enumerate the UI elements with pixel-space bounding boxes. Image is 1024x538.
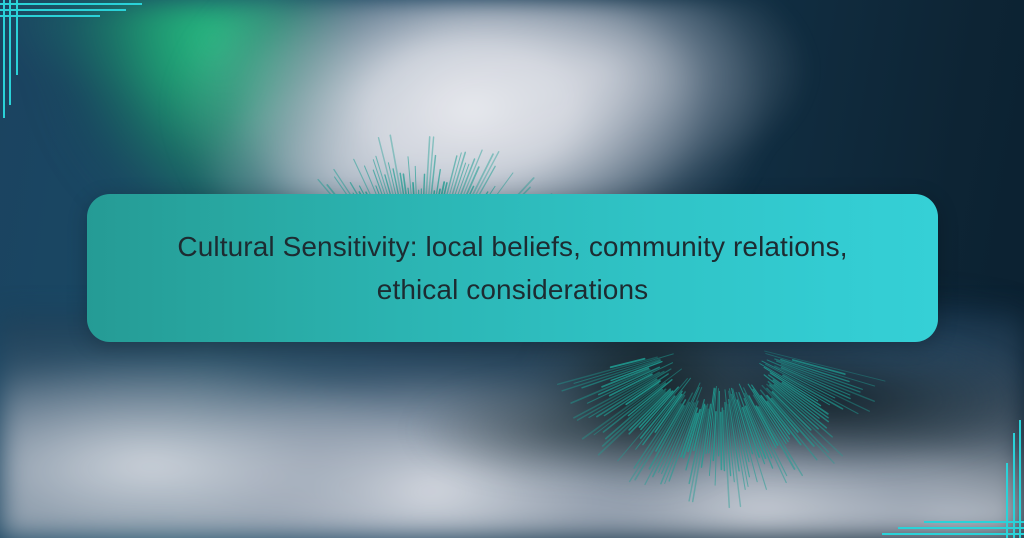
corner-bracket-top-left-icon [0, 0, 160, 130]
page-title: Cultural Sensitivity: local beliefs, com… [163, 225, 863, 311]
slide-canvas: Cultural Sensitivity: local beliefs, com… [0, 0, 1024, 538]
corner-bracket-bottom-right-icon [864, 408, 1024, 538]
content-card: Cultural Sensitivity: local beliefs, com… [87, 194, 938, 342]
